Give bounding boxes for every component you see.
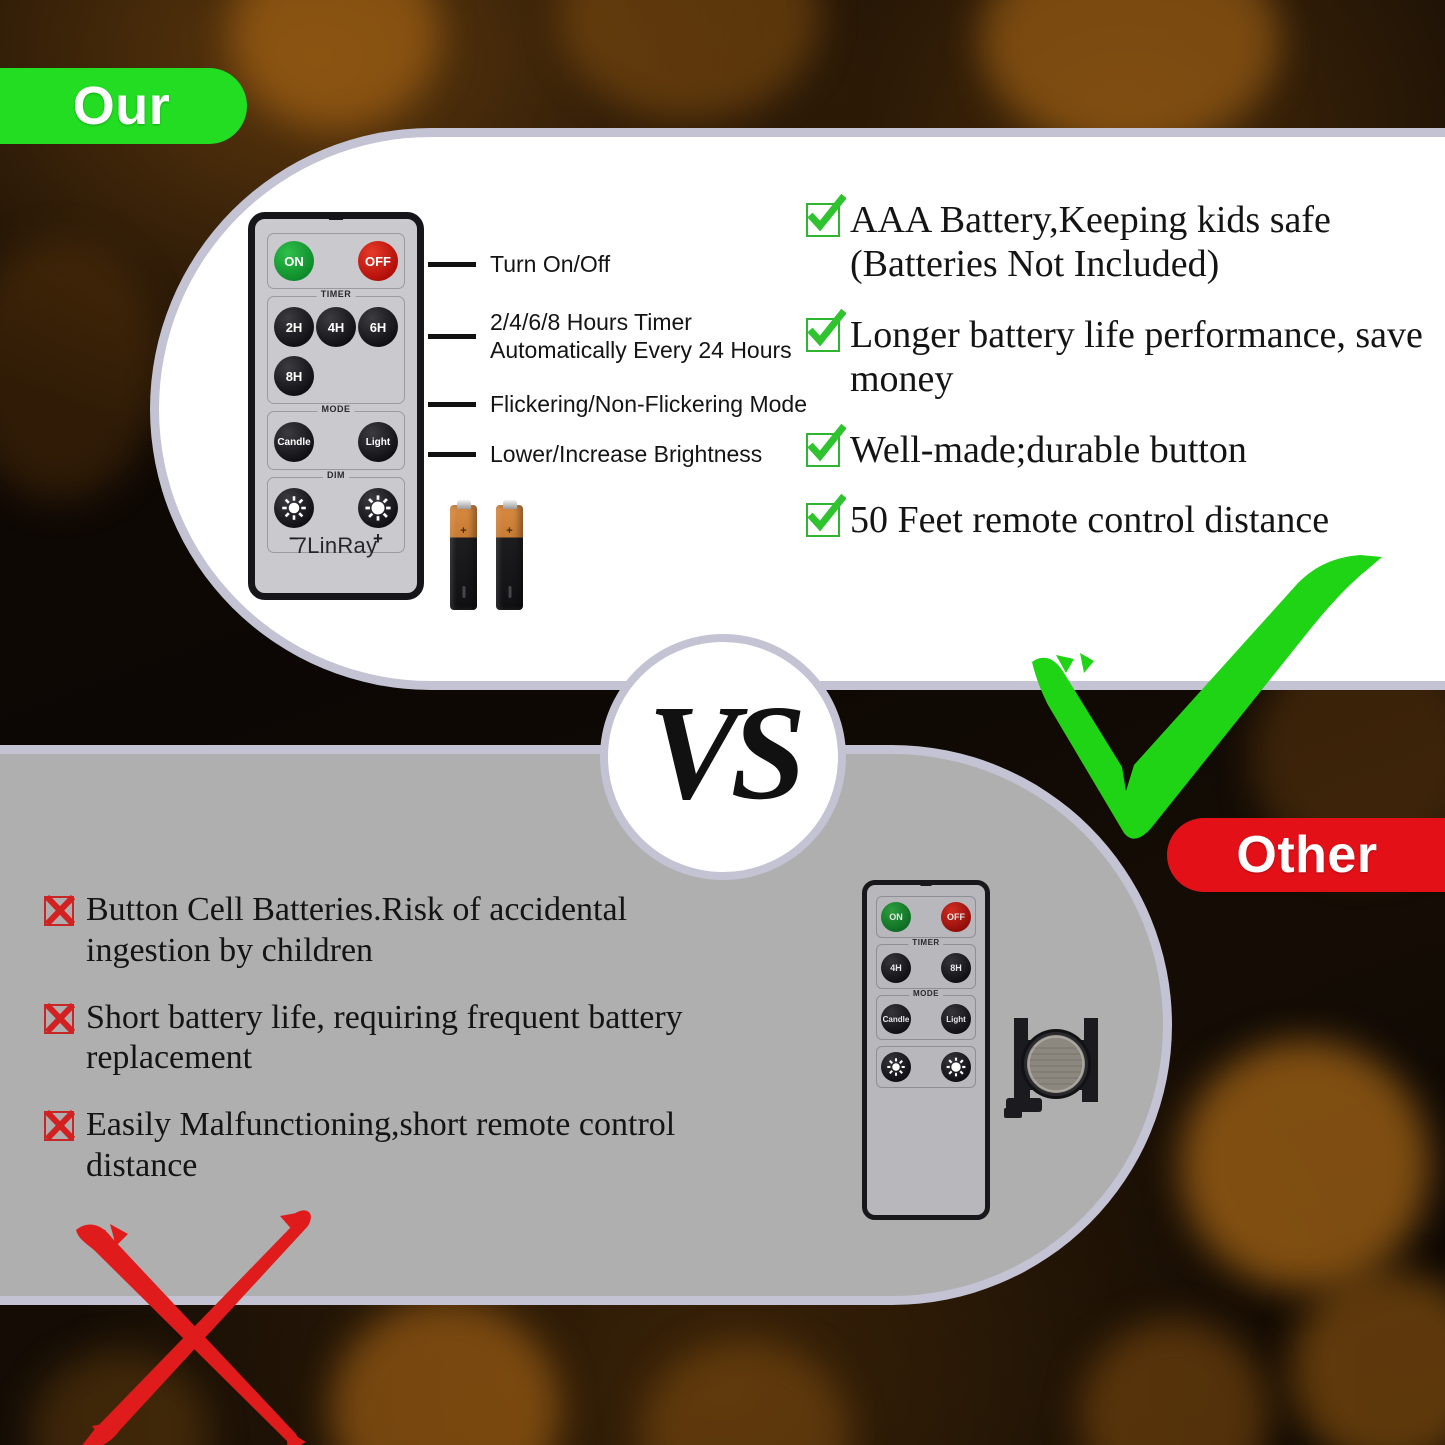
our-remote-control: ON OFF TIMER 2H 4H 6H 8H MODE Candle Lig… <box>248 212 424 600</box>
power-button-group: ON OFF <box>876 896 976 938</box>
x-icon <box>44 1111 74 1141</box>
remote-brand-label: 7LinRay <box>255 533 417 559</box>
brightness-high-icon <box>365 495 391 521</box>
timer-4h-button[interactable]: 4H <box>316 307 356 347</box>
check-icon <box>806 503 840 537</box>
our-badge: Our <box>0 68 247 144</box>
candle-mode-button[interactable]: Candle <box>881 1004 911 1034</box>
x-icon <box>44 1004 74 1034</box>
mode-button-group: MODE Candle Light <box>267 411 405 470</box>
ir-emitter <box>329 213 343 220</box>
cons-text: Short battery life, requiring frequent b… <box>86 998 744 1080</box>
callout-power: Turn On/Off <box>428 250 610 278</box>
button-cell-battery-holder <box>1004 1012 1108 1124</box>
battery-terminal <box>503 500 517 509</box>
battery-plus-label: + <box>496 525 523 537</box>
pros-text: Well-made;durable button <box>850 428 1247 472</box>
timer-group-label: TIMER <box>908 938 943 947</box>
light-mode-button[interactable]: Light <box>941 1004 971 1034</box>
list-item: Short battery life, requiring frequent b… <box>44 998 744 1080</box>
mode-button-group: MODE Candle Light <box>876 995 976 1040</box>
battery-plus-label: + <box>450 525 477 537</box>
timer-6h-button[interactable]: 6H <box>358 307 398 347</box>
timer-group-label: TIMER <box>317 289 356 299</box>
pros-text: Longer battery life performance, save mo… <box>850 313 1426 402</box>
approval-check-mark <box>1030 555 1400 845</box>
cons-text: Easily Malfunctioning,short remote contr… <box>86 1105 744 1187</box>
timer-button-group: TIMER 4H 8H <box>876 944 976 989</box>
ir-emitter <box>921 880 932 886</box>
power-button-group: ON OFF <box>267 233 405 289</box>
list-item: AAA Battery,Keeping kids safe (Batteries… <box>806 198 1426 287</box>
light-mode-button[interactable]: Light <box>358 422 398 462</box>
versus-badge: VS <box>600 634 846 880</box>
callout-line <box>428 452 476 457</box>
dim-up-button[interactable] <box>941 1052 971 1082</box>
candle-mode-button[interactable]: Candle <box>274 422 314 462</box>
pros-list: AAA Battery,Keeping kids safe (Batteries… <box>806 198 1426 543</box>
timer-8h-button[interactable]: 8H <box>941 953 971 983</box>
callout-mode: Flickering/Non-Flickering Mode <box>428 390 807 418</box>
dim-up-button[interactable] <box>358 488 398 528</box>
cons-text: Button Cell Batteries.Risk of accidental… <box>86 890 744 972</box>
brightness-low-icon <box>281 495 307 521</box>
on-button[interactable]: ON <box>274 241 314 281</box>
dim-down-button[interactable] <box>274 488 314 528</box>
timer-4h-button[interactable]: 4H <box>881 953 911 983</box>
on-button[interactable]: ON <box>881 902 911 932</box>
rejection-x-mark <box>58 1190 328 1445</box>
callout-line <box>428 262 476 267</box>
battery-terminal <box>457 500 471 509</box>
our-badge-label: Our <box>73 75 171 137</box>
list-item: Easily Malfunctioning,short remote contr… <box>44 1105 744 1187</box>
x-icon <box>44 896 74 926</box>
pros-text: AAA Battery,Keeping kids safe (Batteries… <box>850 198 1426 287</box>
list-item: 50 Feet remote control distance <box>806 498 1426 542</box>
dim-group-label: DIM <box>323 470 349 480</box>
pros-text: 50 Feet remote control distance <box>850 498 1329 542</box>
mode-group-label: MODE <box>318 404 355 414</box>
aaa-battery: + <box>450 505 477 610</box>
battery-marking <box>462 586 465 598</box>
dim-button-group <box>876 1046 976 1088</box>
aaa-battery: + <box>496 505 523 610</box>
timer-8h-button[interactable]: 8H <box>274 356 314 396</box>
callout-brightness: Lower/Increase Brightness <box>428 440 762 468</box>
list-item: Longer battery life performance, save mo… <box>806 313 1426 402</box>
cons-list: Button Cell Batteries.Risk of accidental… <box>44 890 744 1187</box>
battery-marking <box>508 586 511 598</box>
callout-line <box>428 402 476 407</box>
mode-group-label: MODE <box>909 989 943 998</box>
callout-text: 2/4/6/8 Hours Timer Automatically Every … <box>490 308 792 364</box>
list-item: Button Cell Batteries.Risk of accidental… <box>44 890 744 972</box>
versus-label: VS <box>648 685 798 821</box>
check-icon <box>806 318 840 352</box>
other-remote-control: ON OFF TIMER 4H 8H MODE Candle Light <box>862 880 990 1220</box>
callout-timer: 2/4/6/8 Hours Timer Automatically Every … <box>428 308 792 364</box>
off-button[interactable]: OFF <box>941 902 971 932</box>
infographic-canvas: Our Other ON OFF TIMER 2H 4H 6H 8H MODE … <box>0 0 1445 1445</box>
callout-text: Lower/Increase Brightness <box>490 440 762 468</box>
timer-button-group: TIMER 2H 4H 6H 8H <box>267 296 405 404</box>
callout-line <box>428 334 476 339</box>
off-button[interactable]: OFF <box>358 241 398 281</box>
check-icon <box>806 203 840 237</box>
brightness-low-icon <box>886 1057 906 1077</box>
callout-text: Turn On/Off <box>490 250 610 278</box>
check-icon <box>806 433 840 467</box>
timer-2h-button[interactable]: 2H <box>274 307 314 347</box>
dim-down-button[interactable] <box>881 1052 911 1082</box>
callout-text: Flickering/Non-Flickering Mode <box>490 390 807 418</box>
list-item: Well-made;durable button <box>806 428 1426 472</box>
brightness-high-icon <box>946 1057 966 1077</box>
